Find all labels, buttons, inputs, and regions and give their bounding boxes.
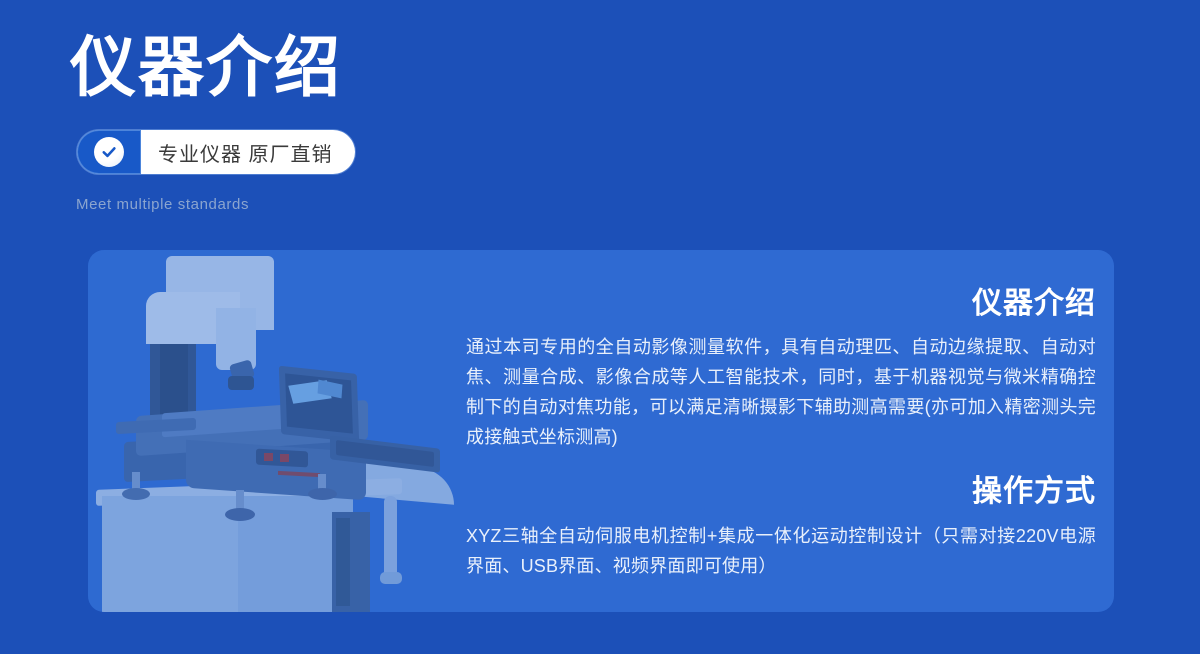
section-instrument-intro: 仪器介绍 通过本司专用的全自动影像测量软件，具有自动理匹、自动边缘提取、自动对焦…	[466, 285, 1096, 452]
card-content: 仪器介绍 通过本司专用的全自动影像测量软件，具有自动理匹、自动边缘提取、自动对焦…	[466, 250, 1114, 612]
subtitle-english: Meet multiple standards	[76, 196, 249, 213]
section-operation-mode: 操作方式 XYZ三轴全自动伺服电机控制+集成一体化运动控制设计（只需对接220V…	[466, 473, 1096, 581]
check-circle-icon	[94, 137, 124, 167]
control-panel-button-right	[280, 454, 289, 462]
computer-tower-face	[336, 518, 350, 606]
machine-foot-pad-1	[122, 488, 150, 500]
section-heading: 仪器介绍	[466, 285, 1096, 323]
section-heading: 操作方式	[466, 473, 1096, 511]
section-body: XYZ三轴全自动伺服电机控制+集成一体化运动控制设计（只需对接220V电源界面、…	[466, 521, 1096, 581]
control-panel-button-left	[264, 453, 273, 461]
promo-page: 仪器介绍 专业仪器 原厂直销 Meet multiple standards	[0, 0, 1200, 654]
section-body: 通过本司专用的全自动影像测量软件，具有自动理匹、自动边缘提取、自动对焦、测量合成…	[466, 332, 1096, 452]
bench-foot	[380, 572, 402, 584]
measuring-machine-photo	[88, 250, 460, 612]
machine-foot-pad-2	[225, 508, 255, 521]
badge-label: 专业仪器 原厂直销	[141, 130, 355, 174]
certification-badge: 专业仪器 原厂直销	[77, 130, 355, 174]
bench-leg	[384, 496, 397, 582]
info-card: 仪器介绍 通过本司专用的全自动影像测量软件，具有自动理匹、自动边缘提取、自动对焦…	[88, 250, 1114, 612]
machine-foot-pad-3	[308, 488, 337, 500]
badge-icon-container	[77, 130, 141, 174]
page-title: 仪器介绍	[70, 29, 342, 109]
camera-lens	[228, 376, 254, 390]
